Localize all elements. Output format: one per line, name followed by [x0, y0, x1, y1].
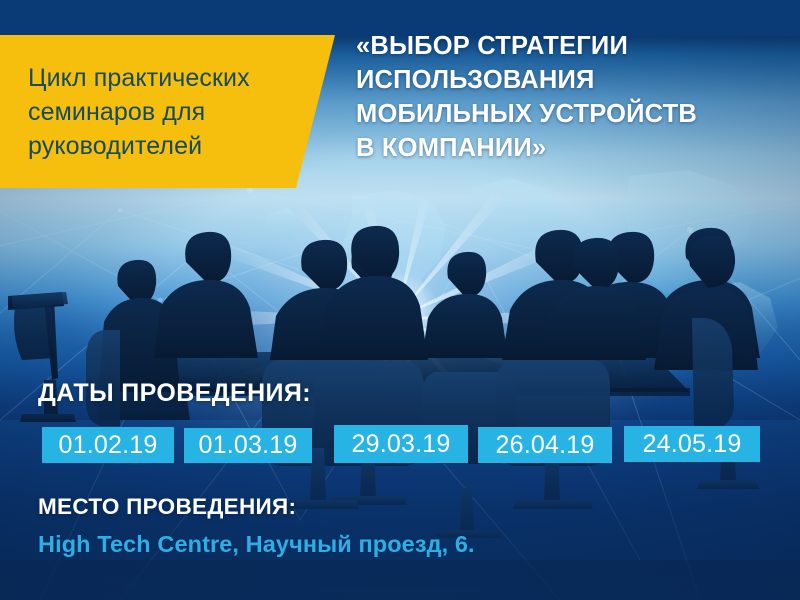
page-title: «ВЫБОР СТРАТЕГИИ ИСПОЛЬЗОВАНИЯ МОБИЛЬНЫХ…: [356, 30, 796, 166]
kicker-flag: Цикл практических семинаров для руководи…: [0, 35, 340, 188]
dates-heading: ДАТЫ ПРОВЕДЕНИЯ:: [38, 379, 311, 408]
date-chip[interactable]: 01.02.19: [42, 427, 174, 463]
headline-line-1: «ВЫБОР СТРАТЕГИИ: [356, 30, 796, 64]
headline-line-3: МОБИЛЬНЫХ УСТРОЙСТВ: [356, 98, 796, 132]
date-chip[interactable]: 24.05.19: [624, 426, 760, 462]
date-chip[interactable]: 29.03.19: [334, 425, 468, 463]
headline-line-2: ИСПОЛЬЗОВАНИЯ: [356, 64, 796, 98]
venue-value: High Tech Centre, Научный проезд, 6.: [38, 531, 475, 558]
date-chip[interactable]: 26.04.19: [478, 427, 612, 463]
kicker-text: Цикл практических семинаров для руководи…: [0, 61, 303, 163]
poster-canvas: Цикл практических семинаров для руководи…: [0, 0, 800, 600]
venue-label: МЕСТО ПРОВЕДЕНИЯ:: [38, 494, 296, 520]
date-chip[interactable]: 01.03.19: [184, 428, 312, 463]
headline-line-4: В КОМПАНИИ»: [356, 132, 796, 166]
